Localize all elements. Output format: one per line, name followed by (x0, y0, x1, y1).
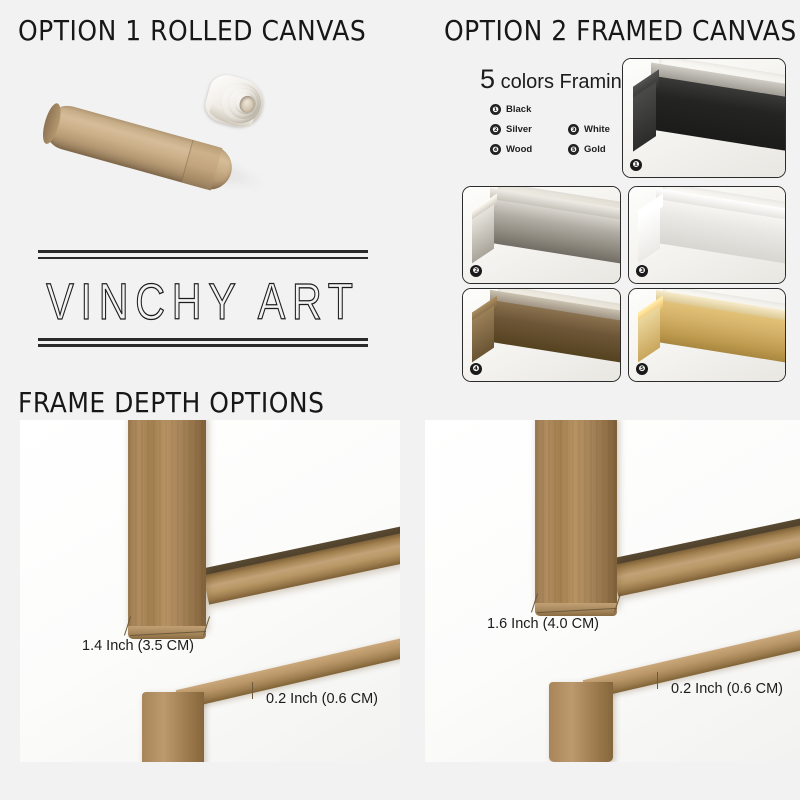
frame-depth-heading: FRAME DEPTH OPTIONS (18, 386, 324, 418)
tube-band (181, 140, 223, 191)
frame-swatch-white[interactable]: ❸ (628, 186, 786, 284)
frame-lower-stile (142, 692, 204, 762)
frame-depth-photo-right: 1.6 Inch (4.0 CM) 0.2 Inch (0.6 CM) (425, 420, 800, 762)
framing-colors-count: 5 (480, 64, 495, 94)
frame-swatch-silver[interactable]: ❷ (462, 186, 621, 284)
swatch-number-1: ❶ (630, 159, 642, 171)
badge-4-icon: ❹ (490, 144, 501, 155)
thickness-tick (657, 672, 658, 689)
swatch-number-5: ❺ (636, 363, 648, 375)
frame-swatch-gold[interactable]: ❺ (628, 288, 786, 382)
legend-item-silver: ❷ Silver (490, 124, 568, 135)
frame-thickness-label-right: 0.2 Inch (0.6 CM) (671, 681, 783, 697)
swatch-number-2: ❷ (470, 265, 482, 277)
thickness-tick (252, 682, 253, 699)
legend-label-gold: Gold (584, 144, 606, 155)
tube-end-cap-icon (39, 101, 64, 145)
product-infographic: OPTION 1 ROLLED CANVAS VINCHY ART OPTION… (0, 0, 800, 800)
logo-rule-top-thin (38, 257, 368, 259)
framing-colors-title: 5 colors Framing (480, 64, 633, 95)
legend-item-black: ❶ Black (490, 104, 568, 115)
legend-label-wood: Wood (506, 144, 532, 155)
badge-2-icon: ❷ (490, 124, 501, 135)
swatch-number-3: ❸ (636, 265, 648, 277)
logo-rule-bottom-thick (38, 338, 368, 341)
brand-name: VINCHY ART (45, 272, 362, 333)
frame-stile-left (535, 420, 617, 607)
logo-rule-bottom-thin (38, 344, 368, 347)
brand-logo: VINCHY ART (38, 248, 368, 356)
badge-5-icon: ❺ (568, 144, 579, 155)
framing-colors-board: 5 colors Framing ❶ Black ❷ Silver ❸ Whit… (462, 58, 784, 358)
rolled-canvas (202, 71, 275, 134)
swatch-number-4: ❹ (470, 363, 482, 375)
frame-stile-left (128, 420, 206, 630)
frame-swatch-wood[interactable]: ❹ (462, 288, 621, 382)
legend-label-silver: Silver (506, 124, 532, 135)
frame-lower-stile (549, 682, 613, 762)
option2-heading: OPTION 2 FRAMED CANVAS (444, 14, 797, 46)
legend-label-white: White (584, 124, 610, 135)
frame-thickness-label-left: 0.2 Inch (0.6 CM) (266, 691, 378, 707)
frame-depth-photo-left: 1.4 Inch (3.5 CM) 0.2 Inch (0.6 CM) (20, 420, 400, 762)
badge-1-icon: ❶ (490, 104, 501, 115)
option1-heading: OPTION 1 ROLLED CANVAS (18, 14, 366, 46)
legend-label-black: Black (506, 104, 531, 115)
badge-3-icon: ❸ (568, 124, 579, 135)
framing-colors-title-rest: colors Framing (495, 71, 633, 93)
rolled-canvas-tube-image (40, 72, 280, 192)
frame-depth-label-right: 1.6 Inch (4.0 CM) (487, 616, 599, 632)
logo-rule-top-thick (38, 250, 368, 253)
frame-swatch-black[interactable]: ❶ (622, 58, 786, 178)
legend-item-wood: ❹ Wood (490, 144, 568, 155)
frame-depth-label-left: 1.4 Inch (3.5 CM) (82, 638, 194, 654)
